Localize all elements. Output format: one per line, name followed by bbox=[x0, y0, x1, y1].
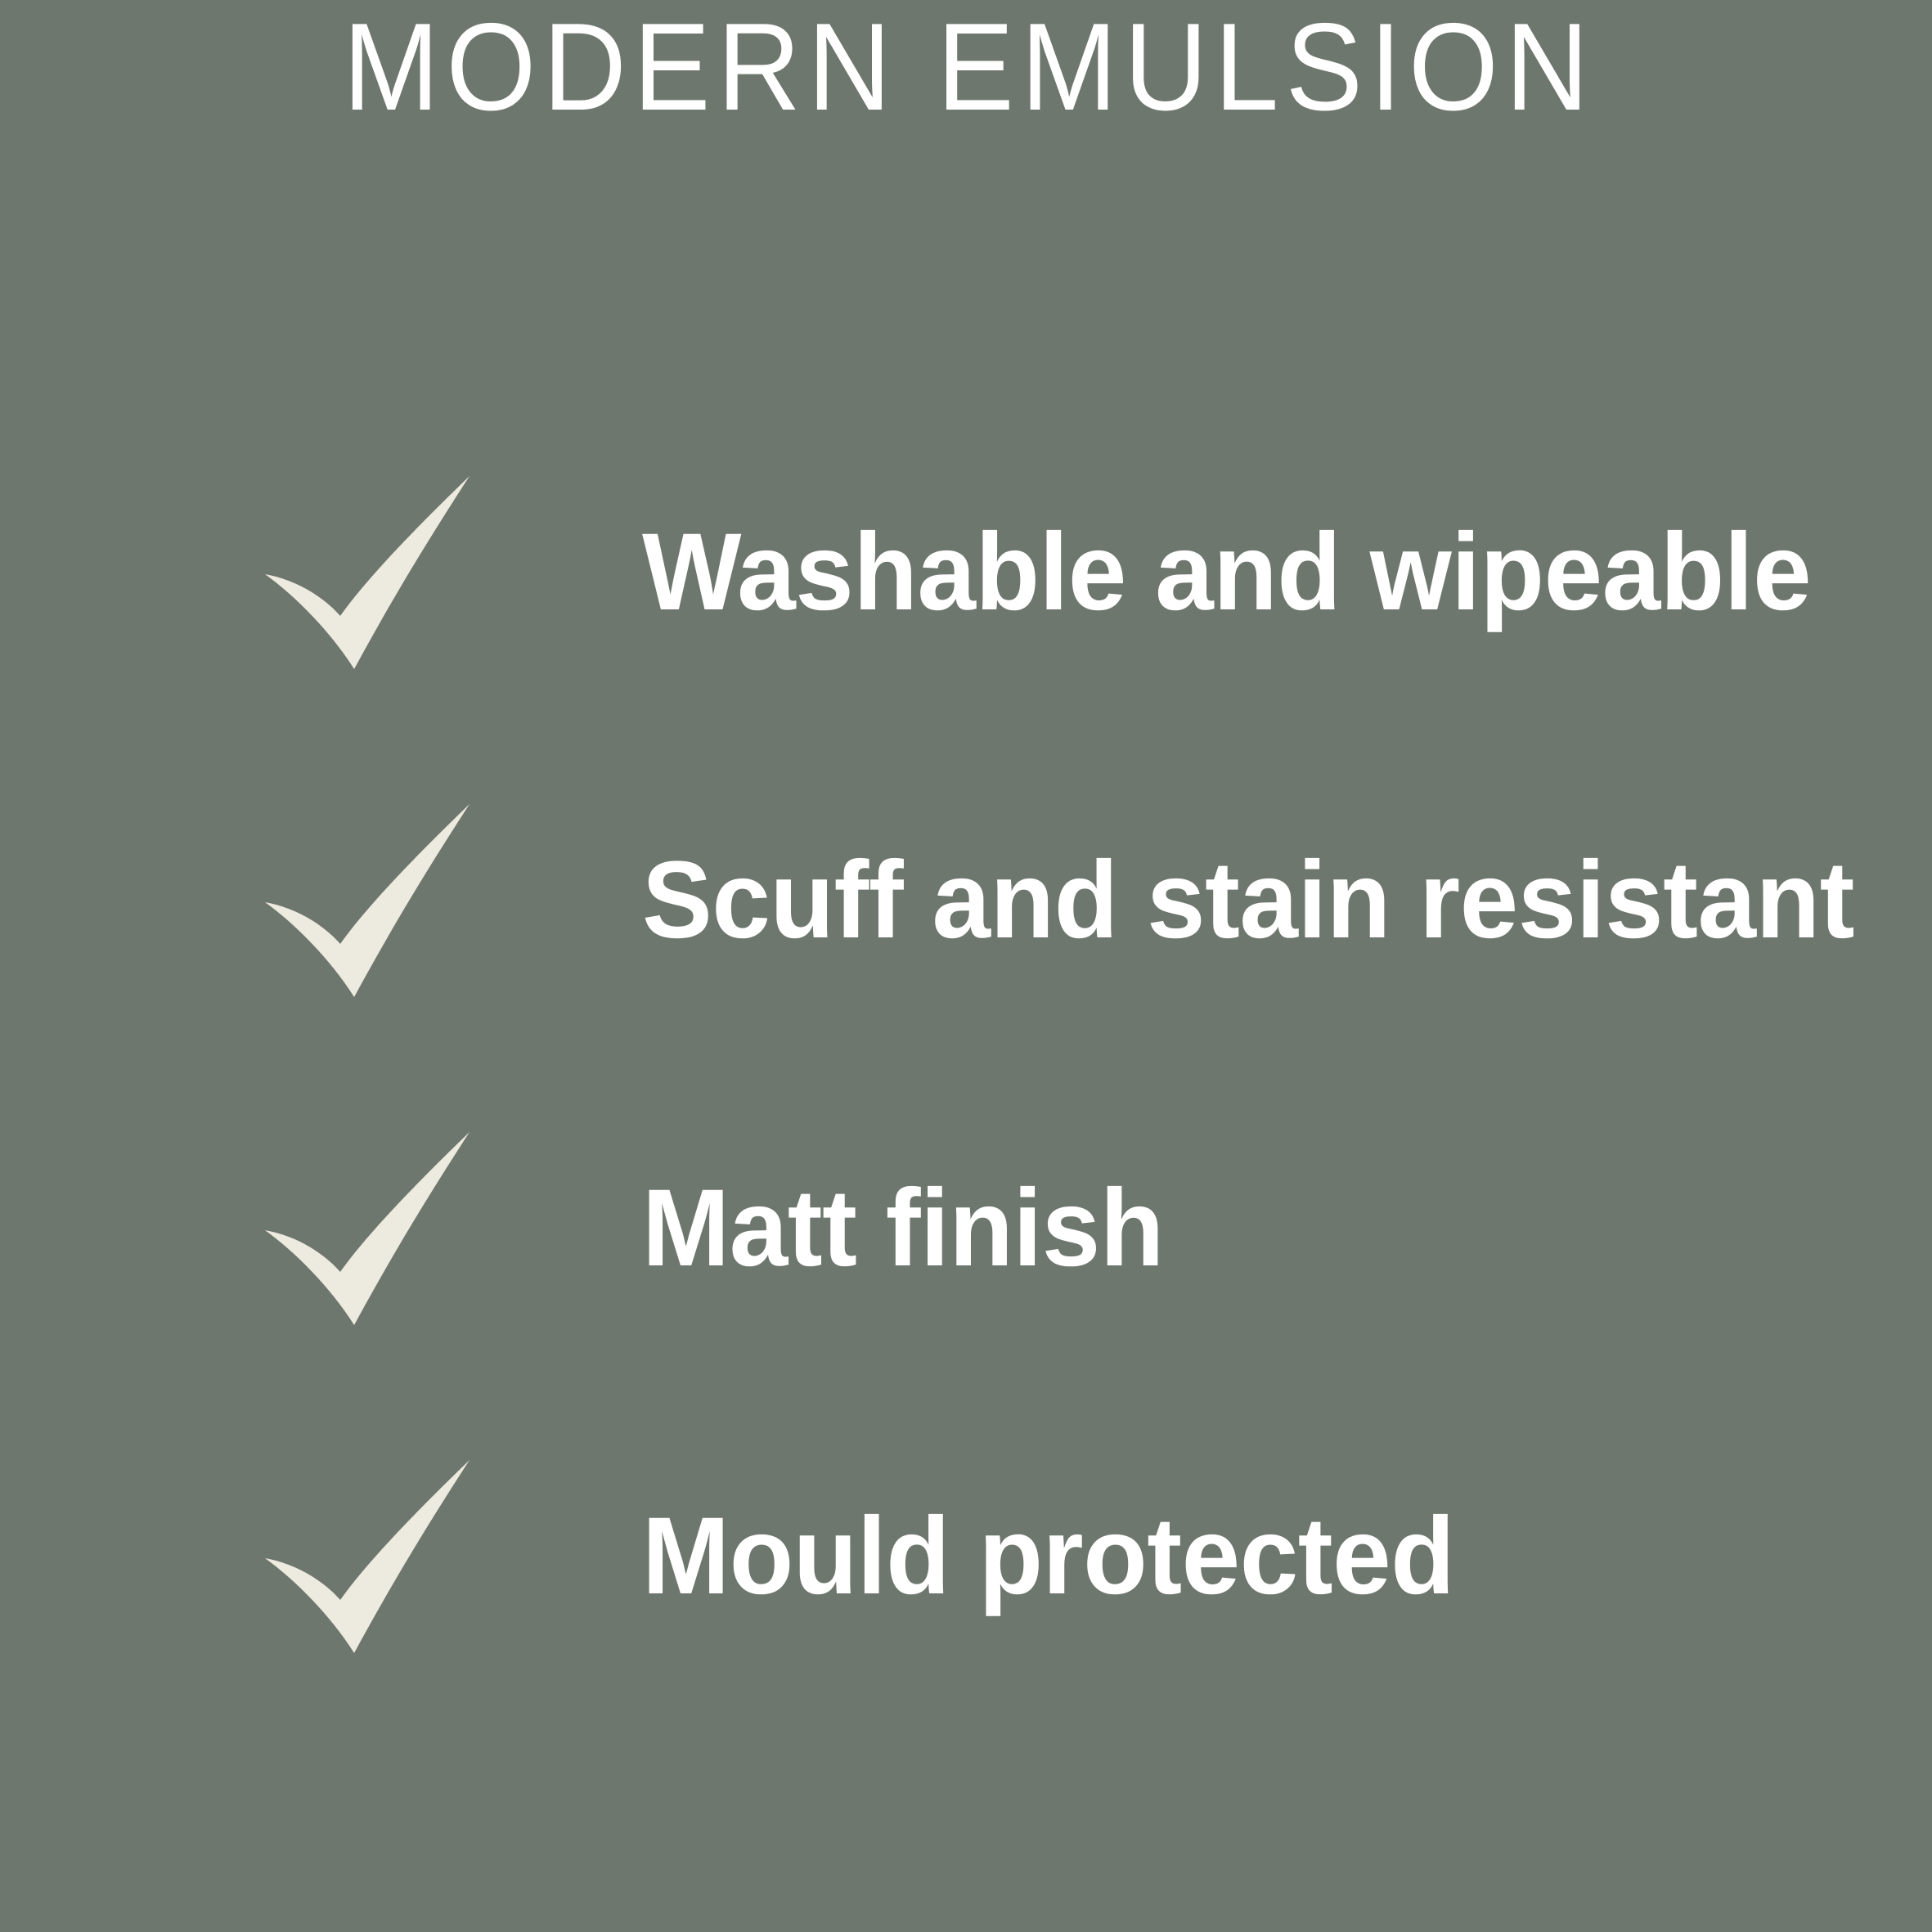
feature-label: Mould protected bbox=[642, 1499, 1816, 1614]
product-feature-poster: MODERN EMULSION Washable and wipeable Sc… bbox=[0, 0, 1932, 1932]
check-mark-icon bbox=[245, 1434, 491, 1679]
check-mark-icon bbox=[245, 778, 491, 1023]
feature-list-item: Mould protected bbox=[245, 1434, 1865, 1679]
feature-list-item: Scuff and stain resistant bbox=[245, 778, 1865, 1023]
feature-list-item: Matt finish bbox=[245, 1106, 1865, 1351]
feature-list-item: Washable and wipeable bbox=[245, 450, 1865, 695]
feature-list: Washable and wipeable Scuff and stain re… bbox=[0, 0, 1932, 1932]
feature-label: Matt finish bbox=[642, 1171, 1816, 1286]
feature-label: Scuff and stain resistant bbox=[642, 843, 1854, 958]
check-mark-icon bbox=[245, 450, 491, 695]
feature-label: Washable and wipeable bbox=[642, 515, 1816, 630]
check-mark-icon bbox=[245, 1106, 491, 1351]
